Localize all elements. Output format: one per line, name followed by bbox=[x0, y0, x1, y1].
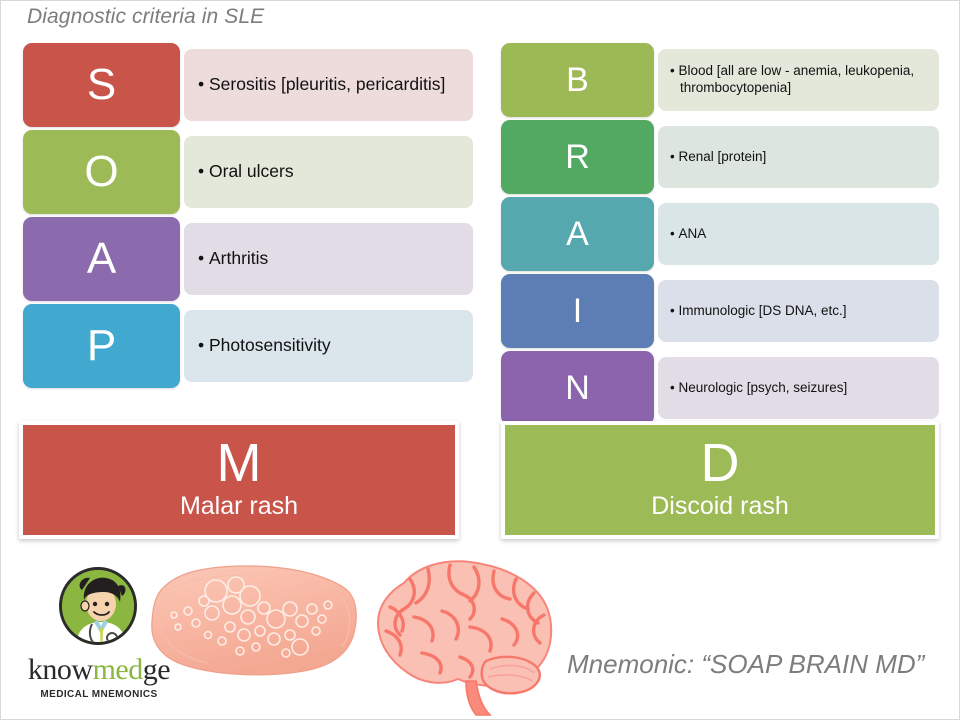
logo-word-know: know bbox=[28, 653, 93, 686]
definition-text-o: Oral ulcers bbox=[198, 161, 294, 183]
brain-column: B Blood [all are low - anemia, leukopeni… bbox=[501, 43, 939, 428]
mnemonic-row-i: I Immunologic [DS DNA, etc.] bbox=[501, 274, 939, 348]
definition-panel-r: Renal [protein] bbox=[658, 126, 939, 188]
letter-tile-a-letter: A bbox=[87, 234, 116, 284]
soap-bar-illustration bbox=[144, 561, 366, 681]
definition-text-n: Neurologic [psych, seizures] bbox=[670, 380, 847, 397]
letter-tile-r[interactable]: R bbox=[501, 120, 654, 194]
definition-text-b: Blood [all are low - anemia, leukopenia,… bbox=[670, 63, 929, 97]
knowmedge-logo[interactable]: knowmedge MEDICAL MNEMONICS bbox=[23, 567, 175, 713]
definition-text-a2: ANA bbox=[670, 226, 706, 243]
logo-word-med: med bbox=[93, 653, 143, 686]
letter-tile-p[interactable]: P bbox=[23, 304, 180, 388]
soap-column: S Serositis [pleuritis, pericarditis] O … bbox=[23, 43, 473, 391]
letter-tile-a2[interactable]: A bbox=[501, 197, 654, 271]
letter-tile-i[interactable]: I bbox=[501, 274, 654, 348]
mnemonic-row-p: P Photosensitivity bbox=[23, 304, 473, 388]
letter-tile-s-letter: S bbox=[87, 60, 116, 110]
malar-rash-box[interactable]: M Malar rash bbox=[19, 421, 459, 539]
discoid-rash-letter: D bbox=[701, 437, 740, 490]
letter-tile-r-letter: R bbox=[565, 138, 590, 177]
mnemonic-row-n: N Neurologic [psych, seizures] bbox=[501, 351, 939, 425]
letter-tile-o-letter: O bbox=[84, 147, 118, 197]
mnemonic-caption: Mnemonic: “SOAP BRAIN MD” bbox=[567, 649, 924, 680]
definition-text-r: Renal [protein] bbox=[670, 149, 766, 166]
definition-text-i: Immunologic [DS DNA, etc.] bbox=[670, 303, 847, 320]
letter-tile-a2-letter: A bbox=[566, 215, 589, 254]
letter-tile-a[interactable]: A bbox=[23, 217, 180, 301]
mnemonic-row-r: R Renal [protein] bbox=[501, 120, 939, 194]
letter-tile-b-letter: B bbox=[566, 61, 589, 100]
letter-tile-p-letter: P bbox=[87, 321, 116, 371]
definition-text-a: Arthritis bbox=[198, 248, 268, 270]
letter-tile-b[interactable]: B bbox=[501, 43, 654, 117]
letter-tile-n[interactable]: N bbox=[501, 351, 654, 425]
definition-panel-a2: ANA bbox=[658, 203, 939, 265]
logo-subtitle: MEDICAL MNEMONICS bbox=[23, 689, 175, 700]
mnemonic-row-a2: A ANA bbox=[501, 197, 939, 271]
doctor-avatar-icon bbox=[59, 567, 137, 645]
definition-panel-i: Immunologic [DS DNA, etc.] bbox=[658, 280, 939, 342]
mnemonic-row-a: A Arthritis bbox=[23, 217, 473, 301]
discoid-rash-label: Discoid rash bbox=[651, 491, 789, 522]
definition-text-s: Serositis [pleuritis, pericarditis] bbox=[198, 74, 445, 96]
definition-text-p: Photosensitivity bbox=[198, 335, 331, 357]
page-title: Diagnostic criteria in SLE bbox=[27, 5, 264, 29]
mnemonic-row-o: O Oral ulcers bbox=[23, 130, 473, 214]
slide-canvas: Diagnostic criteria in SLE S Serositis [… bbox=[0, 0, 960, 720]
definition-panel-p: Photosensitivity bbox=[184, 310, 473, 382]
definition-panel-a: Arthritis bbox=[184, 223, 473, 295]
malar-rash-label: Malar rash bbox=[180, 491, 298, 522]
letter-tile-o[interactable]: O bbox=[23, 130, 180, 214]
definition-panel-o: Oral ulcers bbox=[184, 136, 473, 208]
definition-panel-s: Serositis [pleuritis, pericarditis] bbox=[184, 49, 473, 121]
letter-tile-n-letter: N bbox=[565, 369, 590, 408]
brain-illustration bbox=[366, 557, 561, 717]
logo-wordmark: knowmedge bbox=[23, 653, 175, 687]
discoid-rash-box[interactable]: D Discoid rash bbox=[501, 421, 939, 539]
letter-tile-i-letter: I bbox=[573, 292, 582, 331]
letter-tile-s[interactable]: S bbox=[23, 43, 180, 127]
malar-rash-letter: M bbox=[217, 437, 262, 490]
logo-word-ge: ge bbox=[143, 653, 170, 686]
definition-panel-b: Blood [all are low - anemia, leukopenia,… bbox=[658, 49, 939, 111]
mnemonic-row-s: S Serositis [pleuritis, pericarditis] bbox=[23, 43, 473, 127]
definition-panel-n: Neurologic [psych, seizures] bbox=[658, 357, 939, 419]
mnemonic-row-b: B Blood [all are low - anemia, leukopeni… bbox=[501, 43, 939, 117]
